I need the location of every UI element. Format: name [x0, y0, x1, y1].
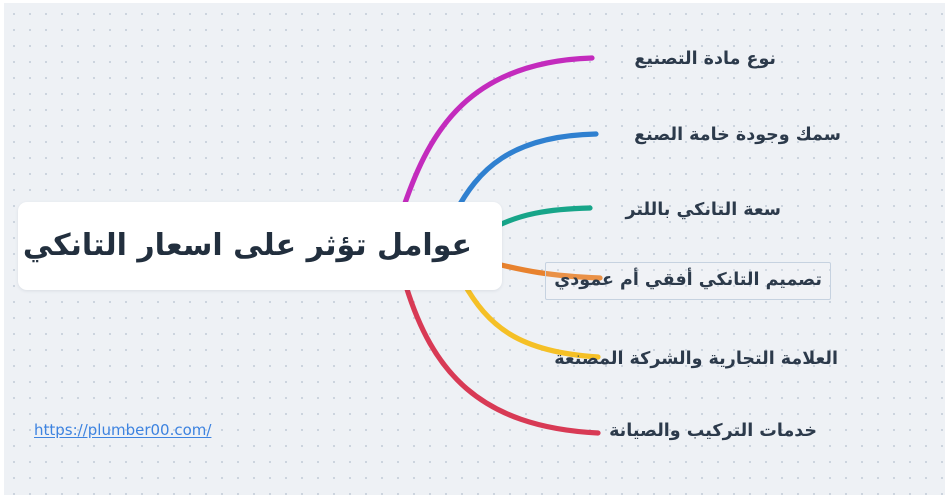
branch-node-4-label: العلامة التجارية والشركة المصنعة — [554, 351, 838, 369]
branch-node-1[interactable]: سمك وجودة خامة الصنع — [626, 119, 849, 153]
root-node-label: عوامل تؤثر على اسعار التانكي — [23, 227, 472, 265]
connector-branch-2 — [497, 208, 590, 226]
branch-node-2-label: سعة التانكي باللتر — [625, 202, 781, 220]
branch-node-5[interactable]: خدمات التركيب والصيانة — [601, 415, 825, 449]
mindmap-canvas[interactable]: عوامل تؤثر على اسعار التانكي نوع مادة ال… — [0, 0, 949, 504]
branch-node-0[interactable]: نوع مادة التصنيع — [626, 43, 784, 77]
branch-node-4[interactable]: العلامة التجارية والشركة المصنعة — [546, 343, 846, 377]
root-node[interactable]: عوامل تؤثر على اسعار التانكي — [18, 202, 502, 290]
branch-node-2[interactable]: سعة التانكي باللتر — [617, 194, 789, 228]
site-url-text: https://plumber00.com/ — [34, 421, 211, 439]
branch-node-3[interactable]: تصميم التانكي أفقي أم عمودي — [545, 262, 831, 300]
branch-node-5-label: خدمات التركيب والصيانة — [609, 423, 817, 441]
connector-branch-0 — [404, 58, 592, 206]
branch-node-1-label: سمك وجودة خامة الصنع — [634, 127, 841, 145]
branch-node-0-label: نوع مادة التصنيع — [634, 51, 776, 69]
site-url-link[interactable]: https://plumber00.com/ — [34, 420, 211, 439]
branch-node-3-label: تصميم التانكي أفقي أم عمودي — [554, 272, 822, 290]
